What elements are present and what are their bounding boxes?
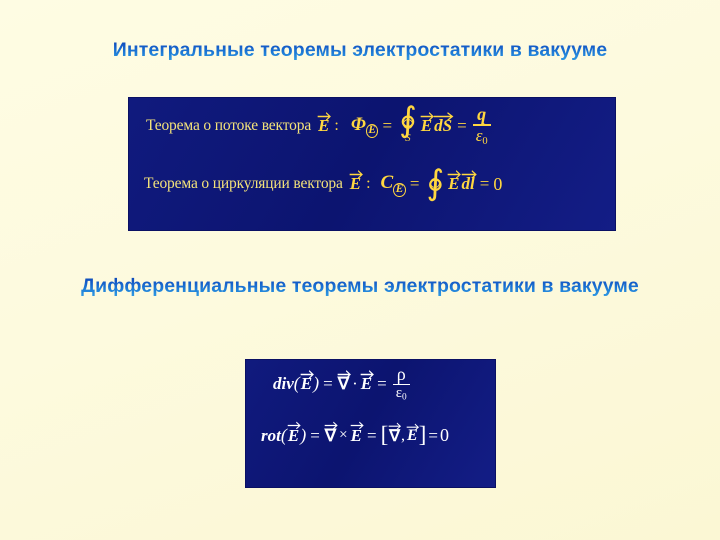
commutator-comma: , — [401, 427, 405, 445]
commutator-close-bracket: ] — [419, 425, 427, 446]
integral-limit-s: S — [405, 132, 411, 144]
contour-integral-icon: ∮ — [426, 171, 444, 198]
circulation-colon: : — [366, 175, 370, 193]
slide-canvas: Интегральные теоремы электростатики в ва… — [0, 0, 720, 540]
div-operator: div — [273, 374, 294, 394]
rot-field-argument: E — [287, 426, 300, 446]
div-field-symbol: E — [360, 374, 373, 394]
charge-over-epsilon-fraction: q ε0 — [473, 105, 491, 147]
circulation-theorem-label: Теорема о циркуляции вектора — [144, 175, 343, 193]
surface-integral-icon: ∮ S — [399, 108, 417, 144]
circulation-integrand-differential: dl — [461, 174, 476, 194]
flux-theorem-label: Теорема о потоке вектора — [146, 117, 311, 135]
circulation-vector-symbol: E — [349, 174, 362, 194]
flux-theorem-formula: Теорема о потоке вектора E : ΦE = ∮ S — [146, 105, 493, 147]
rot-close-paren: ) — [300, 425, 306, 446]
integral-loop-ring — [403, 119, 413, 129]
rot-field-symbol: E — [350, 426, 363, 446]
integral-loop-ring — [430, 178, 440, 188]
flux-integrand-field: E — [420, 116, 433, 136]
rot-equals-2: = — [367, 426, 377, 446]
divergence-formula: div ( E ) = ∇ · E — [273, 365, 412, 403]
cross-product-operator: × — [339, 427, 347, 444]
fraction-numerator-rho: ρ — [394, 365, 409, 384]
rot-operator: rot — [261, 426, 281, 446]
div-equals-1: = — [323, 374, 333, 394]
div-equals-2: = — [377, 374, 387, 394]
page-title-integral-theorems: Интегральные теоремы электростатики в ва… — [50, 38, 670, 63]
circulation-lhs: CE — [381, 172, 406, 197]
circulation-equals-1: = — [410, 174, 420, 194]
flux-integrand-differential: dS — [433, 116, 453, 136]
circulation-equals-2: = — [480, 174, 490, 194]
fraction-denominator-epsilon: ε0 — [473, 126, 491, 147]
integral-theorems-formula-box: Теорема о потоке вектора E : ΦE = ∮ S — [128, 97, 616, 231]
fraction-denominator-epsilon: ε0 — [393, 385, 410, 403]
rot-result-zero: 0 — [440, 425, 449, 446]
div-field-argument: E — [300, 374, 313, 394]
dot-product-operator: · — [352, 374, 358, 394]
flux-lhs-subscript: E — [366, 124, 379, 138]
flux-equals-2: = — [457, 116, 467, 136]
commutator-nabla: ∇ — [388, 426, 401, 446]
circulation-integrand-field: E — [447, 174, 460, 194]
commutator-open-bracket: [ — [381, 425, 389, 446]
circulation-result-zero: 0 — [493, 174, 502, 195]
differential-theorems-formula-box: div ( E ) = ∇ · E — [245, 359, 496, 488]
div-close-paren: ) — [313, 373, 319, 394]
rot-equals-3: = — [428, 426, 438, 446]
nabla-operator-symbol: ∇ — [324, 426, 337, 446]
fraction-numerator-q: q — [474, 105, 489, 124]
flux-colon: : — [334, 117, 338, 135]
rot-equals-1: = — [310, 426, 320, 446]
commutator-field: E — [406, 427, 419, 445]
page-title-differential-theorems: Дифференциальные теоремы электростатики … — [26, 274, 694, 299]
circulation-lhs-subscript: E — [393, 183, 406, 197]
circulation-theorem-formula: Теорема о циркуляции вектора E : CE = ∮ — [144, 171, 502, 198]
nabla-operator-symbol: ∇ — [337, 374, 350, 394]
rotor-formula: rot ( E ) = ∇ × E — [261, 425, 449, 446]
flux-vector-symbol: E — [317, 116, 330, 136]
flux-equals-1: = — [382, 116, 392, 136]
rho-over-epsilon-fraction: ρ ε0 — [393, 365, 410, 403]
epsilon-subscript: 0 — [482, 135, 487, 146]
flux-lhs: ΦE — [351, 114, 379, 139]
epsilon-subscript: 0 — [402, 393, 407, 403]
